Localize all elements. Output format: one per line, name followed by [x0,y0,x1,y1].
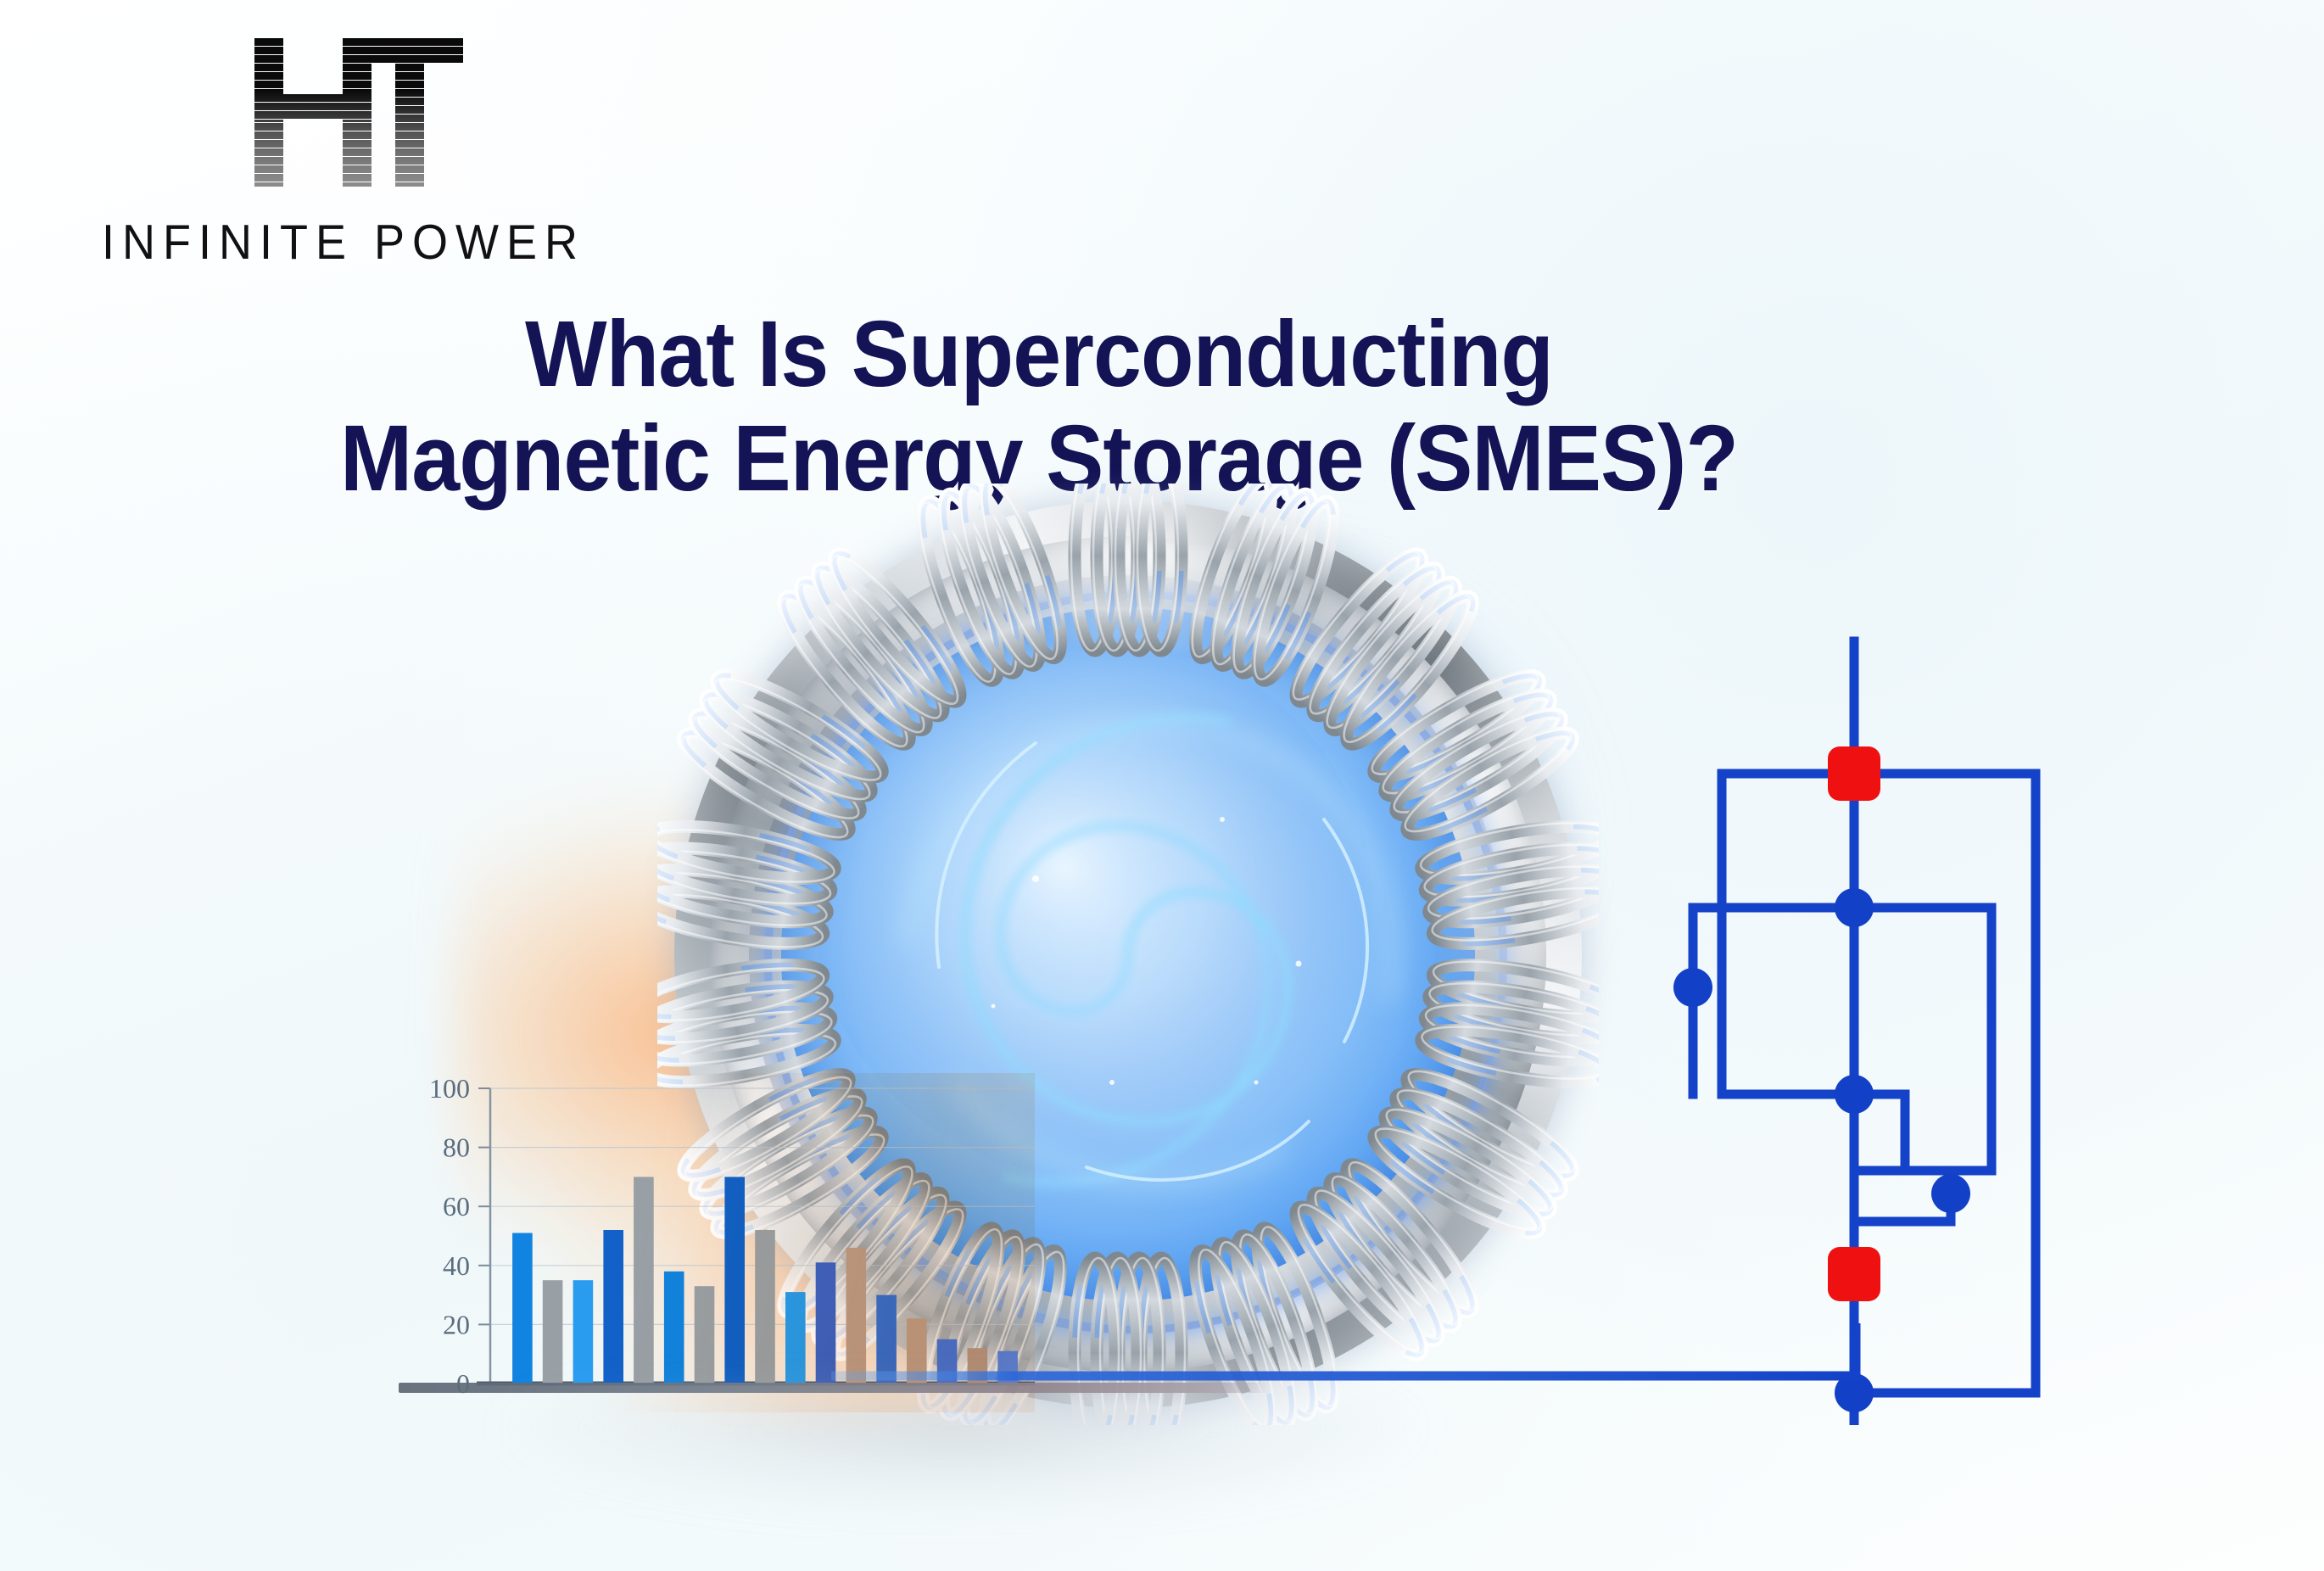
coil-turn-group [1071,484,1182,651]
chart-bar [603,1230,623,1384]
poster-canvas: INFINITE POWER What Is Superconducting M… [0,0,2324,1571]
chart-y-tick-label: 100 [429,1073,470,1104]
ht-letter-h-crossbar [254,94,372,120]
chart-y-tick-label: 40 [443,1250,470,1281]
circuit-wires [1476,641,2036,1425]
brand-wordmark: INFINITE POWER [102,215,628,271]
page-title-line-1: What Is Superconducting [525,302,1553,406]
chart-y-tick-label: 60 [443,1191,470,1222]
circuit-diagram [1442,577,2324,1425]
chart-bar [695,1286,715,1384]
chart-bar [664,1272,684,1384]
chart-bar [755,1230,775,1384]
junction-node-4 [1931,1174,1970,1213]
chart-bar [634,1177,654,1384]
chart-bar [724,1177,745,1384]
coil-turn-group [657,816,838,958]
power-switch-lower[interactable] [1828,1247,1880,1301]
chart-bar [573,1280,594,1384]
coil-turn-group [1178,484,1347,687]
chart-bar [512,1233,533,1384]
chart-bar [543,1280,563,1384]
circuit-bottom-return-wire [831,1323,1866,1459]
chart-y-tick-label: 20 [443,1309,470,1339]
ht-monogram-icon [254,38,433,191]
junction-node-2 [1673,968,1712,1007]
chart-y-tick-label: 80 [443,1132,470,1163]
brand-logo: INFINITE POWER [102,38,628,267]
ht-letter-t-stem [395,38,424,187]
power-switch-upper[interactable] [1828,746,1880,801]
junction-node-3 [1835,1075,1874,1114]
chart-bar [785,1292,806,1384]
coil-turn-group [906,484,1075,688]
junction-node-1 [1835,888,1874,927]
